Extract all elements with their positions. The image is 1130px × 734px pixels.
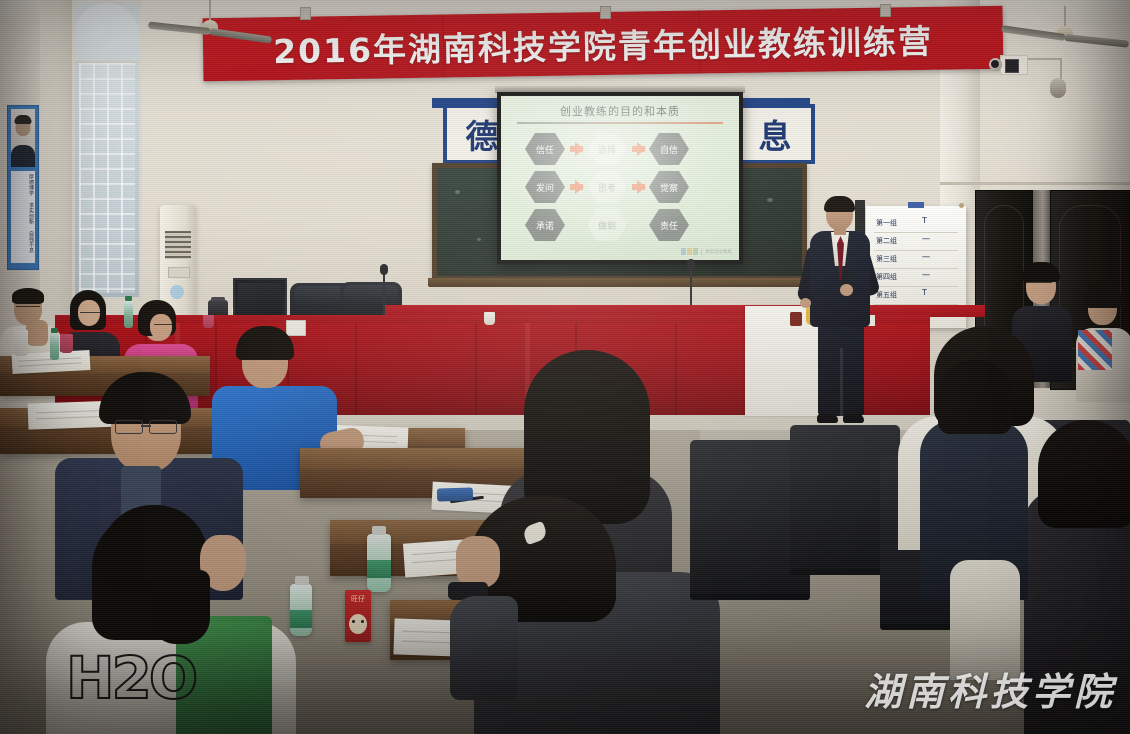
poster-figure-glasses [16, 123, 30, 128]
wall-sign-xi: 息 [735, 104, 815, 164]
presenter-shoe [843, 414, 864, 423]
camera-mount-arm [1028, 58, 1062, 60]
audience-woman-floral-scarf [1076, 282, 1130, 402]
chalk-tray [428, 278, 813, 287]
hand [26, 320, 48, 346]
water-bottle[interactable] [367, 534, 391, 592]
participant-woman-grey-top [420, 490, 720, 734]
desktop-monitor[interactable] [233, 278, 287, 320]
presenter [800, 198, 880, 428]
ceiling-fan [1000, 6, 1130, 50]
flipchart-clip [908, 202, 924, 208]
presenter-shoe [817, 414, 838, 423]
ac-vent [165, 231, 191, 259]
mascot-face-icon [349, 614, 367, 634]
projection-screen: 创业教练的目的和本质 信任 选择 自信 发问 思考 觉察 [497, 92, 743, 264]
juice-carton[interactable]: 旺仔 [345, 590, 371, 642]
water-bottle[interactable] [290, 584, 312, 636]
water-bottle[interactable] [50, 332, 59, 360]
arm [450, 596, 518, 700]
microphone-head [687, 259, 695, 270]
wall-sign-de-text: 德 [466, 110, 499, 158]
banner-clip [600, 6, 611, 19]
dome-camera [989, 58, 1002, 71]
security-camera [1000, 55, 1028, 75]
camera-mount-post [1060, 58, 1062, 80]
eyeglasses [115, 420, 177, 432]
slide: 创业教练的目的和本质 信任 选择 自信 发问 思考 觉察 [501, 96, 739, 260]
presenter-hand-left [800, 298, 811, 308]
ac-display [168, 267, 190, 278]
flipchart-row-tally: 一 [922, 270, 930, 281]
wall-poster-portrait: 厚德博学 求实创新 自强不息 [7, 105, 39, 270]
event-banner-text: 2016年湖南科技学院青年创业教练训练营 [273, 14, 934, 72]
presenter-hair [824, 196, 855, 212]
floral-scarf [1078, 330, 1112, 370]
ponytail [150, 570, 210, 644]
classroom-photo: 厚德博学 求实创新 自强不息 2016年湖南科技学院青年创业教练训练营 德 息 [0, 0, 1130, 734]
mug[interactable] [203, 315, 214, 328]
ceiling-fan [150, 0, 270, 40]
camera-lens [1005, 59, 1019, 73]
wall-pillar-left [40, 0, 74, 330]
flipchart-row-tally: 一 [922, 234, 930, 245]
flipchart-row-tally: 一 [922, 252, 930, 263]
banner-clip [300, 7, 311, 20]
photo-watermark: 湖南科技学院 [864, 661, 1116, 716]
hand [456, 536, 500, 588]
presenter-hand-right [840, 284, 853, 296]
ac-sticker [170, 285, 184, 299]
travel-mug[interactable] [60, 334, 73, 353]
flipchart-row-tally: T [922, 288, 927, 297]
poster-photo [11, 109, 35, 167]
flipchart-pin [959, 203, 964, 208]
banner-clip [880, 4, 891, 17]
wall-sign-xi-text: 息 [759, 110, 792, 158]
window-light-glare [72, 0, 142, 300]
wall-trim [940, 182, 1130, 185]
wall-speaker [1050, 78, 1066, 98]
microphone-head [380, 264, 388, 275]
slide-projector-glow [501, 96, 739, 260]
poster-figure-body [11, 145, 35, 167]
poster-vertical-text: 厚德博学 求实创新 自强不息 [11, 171, 35, 263]
paper-cup[interactable] [484, 312, 495, 325]
jacket-graphic-text: H2O [66, 652, 198, 734]
juice-carton-text: 旺仔 [345, 594, 371, 604]
paper-cup[interactable] [14, 330, 28, 356]
flipchart-row-tally: T [922, 216, 927, 225]
